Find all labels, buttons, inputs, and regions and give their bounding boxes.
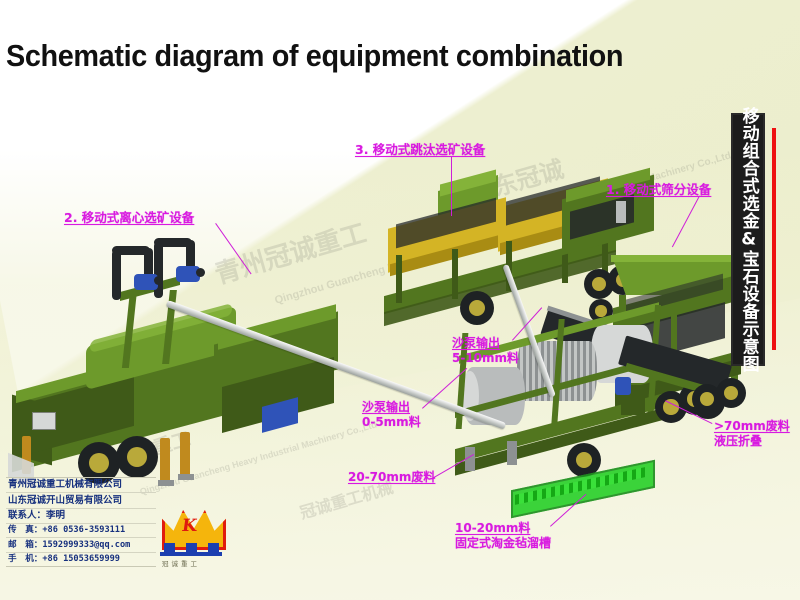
- logo-monogram: K: [181, 516, 199, 536]
- callout-pump-5-10: 沙泵输出 5-10mm料: [452, 336, 519, 366]
- contact-row-email: 邮 箱：1592999333@qq.com: [6, 538, 156, 552]
- logo-base-bar: [160, 552, 222, 556]
- wheel: [716, 378, 746, 408]
- logo-caption: 冠诚重工: [162, 558, 200, 568]
- callout-pump-0-5: 沙泵输出 0-5mm料: [362, 400, 421, 430]
- company-logo: K 冠诚重工: [158, 508, 226, 574]
- contact-row-mobile: 手 机：+86 15053659999: [6, 553, 156, 566]
- contact-row-fax: 传 真：+86 0536-3593111: [6, 524, 156, 538]
- wheel: [116, 436, 158, 478]
- contact-row: 青州冠诚重工机械有限公司: [6, 478, 156, 493]
- callout-equipment-3: 3. 移动式跳汰选矿设备: [355, 142, 485, 158]
- contact-card: 青州冠诚重工机械有限公司 山东冠诚开山贸易有限公司 联系人：李明 传 真：+86…: [6, 477, 156, 567]
- callout-waste-70: >70mm废料 液压折叠: [714, 419, 790, 449]
- callout-waste-20-70: 20-70mm废料: [348, 470, 435, 485]
- callout-sluice: 10-20mm料 固定式淘金毡溜槽: [455, 521, 551, 551]
- vertical-banner-text: 移动组合式选金&宝石设备示意图: [739, 107, 756, 373]
- vertical-banner: 移动组合式选金&宝石设备示意图: [731, 113, 765, 366]
- contact-row: 联系人：李明: [6, 509, 156, 524]
- contact-row: 山东冠诚开山贸易有限公司: [6, 493, 156, 508]
- page-title: Schematic diagram of equipment combinati…: [6, 38, 623, 74]
- equipment-centrifugal: [8, 290, 338, 490]
- wheel: [460, 291, 494, 325]
- callout-equipment-2: 2. 移动式离心选矿设备: [64, 210, 194, 226]
- leader-line-3: [451, 156, 452, 216]
- logo-base-block: [164, 543, 175, 552]
- logo-base-block: [186, 543, 197, 552]
- schematic-canvas: 青州冠诚重工 Qingzhou Guancheng Heavy Industri…: [0, 0, 800, 600]
- banner-accent-bar: [772, 128, 776, 350]
- callout-equipment-1: 1. 移动式筛分设备: [606, 182, 711, 198]
- logo-base-block: [208, 543, 219, 552]
